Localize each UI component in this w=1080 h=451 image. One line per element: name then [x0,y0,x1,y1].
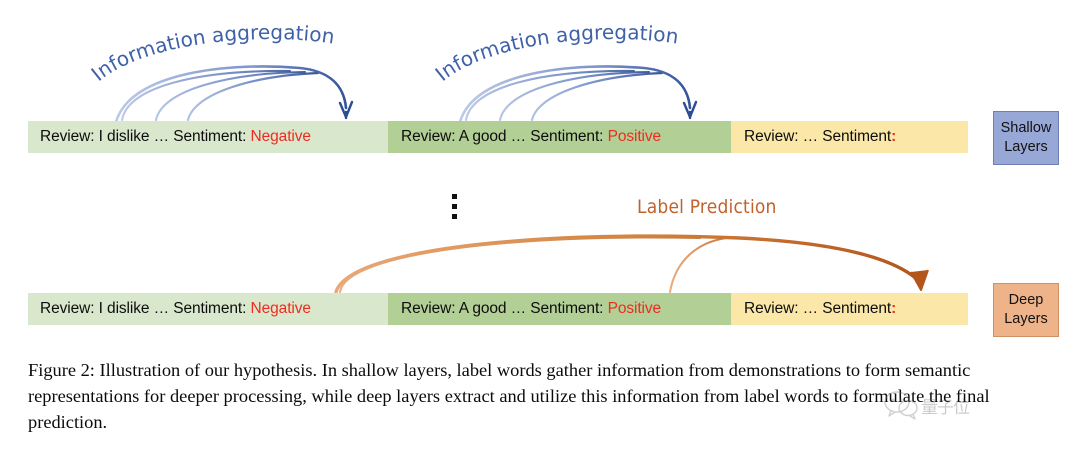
segment-prefix-text: Review: A good … Sentiment: [401,128,608,146]
svg-text:Information aggregation: Information aggregation [430,24,680,86]
information-aggregation-label-1: Information aggregation [86,24,396,94]
segment-prefix-text: Review: I dislike … Sentiment: [40,300,251,318]
deep-layers-badge: Deep Layers [993,283,1059,337]
prompt-segment-demonstration-1: Review: I dislike … Sentiment: Negative [28,293,388,325]
ellipsis-dot [452,204,457,209]
segment-label-word: Negative [251,128,311,146]
segment-prefix-text: Review: … Sentiment [744,128,891,146]
segment-prefix-text: Review: A good … Sentiment: [401,300,608,318]
prompt-segment-query: Review: … Sentiment : [731,121,968,153]
segment-prefix-text: Review: … Sentiment [744,300,891,318]
figure-number: Figure 2: [28,360,95,380]
vertical-ellipsis-icon [452,194,457,219]
segment-label-word: Negative [251,300,311,318]
wechat-bubble-icon [884,390,918,420]
prompt-segment-query: Review: … Sentiment : [731,293,968,325]
figure-caption-text: Illustration of our hypothesis. In shall… [28,360,990,432]
segment-label-word: Positive [608,300,661,318]
badge-line-1: Shallow [1001,119,1052,138]
segment-label-word: Positive [608,128,661,146]
label-prediction-label: Label Prediction [637,196,777,219]
badge-line-2: Layers [1004,138,1048,157]
aggregation-label-text: Information aggregation [430,24,680,86]
label-prediction-text: Label Prediction [637,196,777,218]
ellipsis-dot [452,214,457,219]
badge-line-1: Deep [1009,291,1044,310]
badge-line-2: Layers [1004,310,1048,329]
aggregation-label-text: Information aggregation [86,24,336,86]
ellipsis-dot [452,194,457,199]
shallow-layers-badge: Shallow Layers [993,111,1059,165]
prompt-row-deep: Review: I dislike … Sentiment: Negative … [28,293,968,325]
watermark: 量子位 [884,382,1024,428]
information-aggregation-label-2: Information aggregation [430,24,740,94]
label-prediction-arrows [336,236,928,292]
segment-label-word: : [891,300,896,318]
prompt-segment-demonstration-1: Review: I dislike … Sentiment: Negative [28,121,388,153]
watermark-text: 量子位 [921,393,969,418]
prompt-segment-demonstration-2: Review: A good … Sentiment: Positive [388,293,731,325]
prompt-row-shallow: Review: I dislike … Sentiment: Negative … [28,121,968,153]
prompt-segment-demonstration-2: Review: A good … Sentiment: Positive [388,121,731,153]
segment-label-word: : [891,128,896,146]
svg-text:Information aggregation: Information aggregation [86,24,336,86]
segment-prefix-text: Review: I dislike … Sentiment: [40,128,251,146]
